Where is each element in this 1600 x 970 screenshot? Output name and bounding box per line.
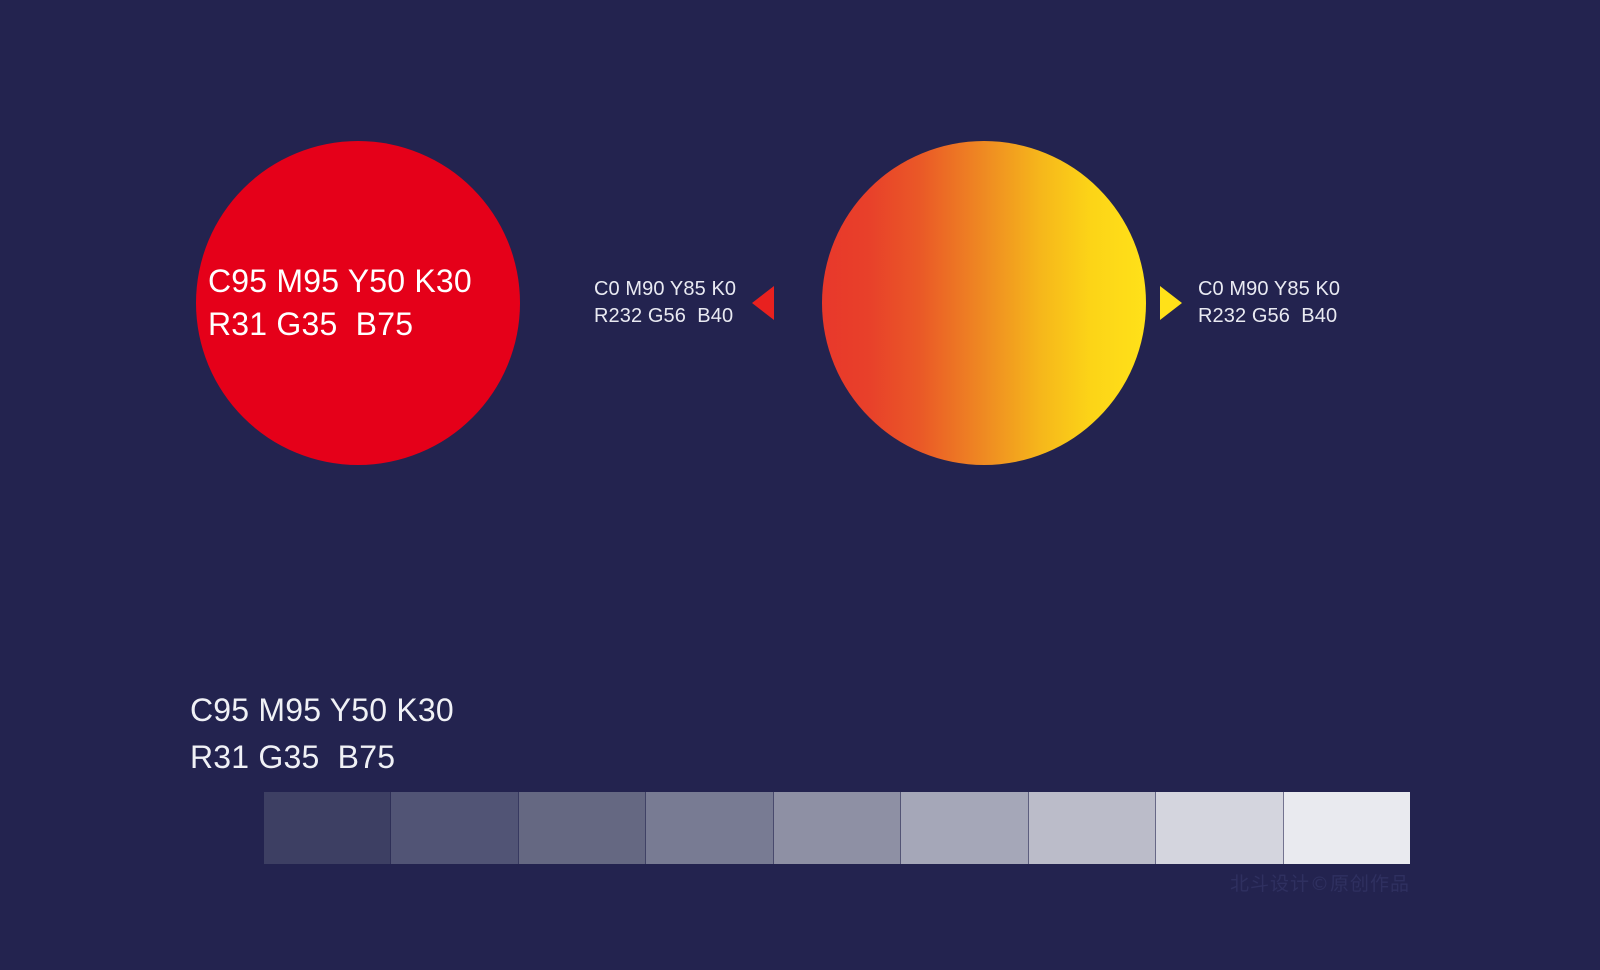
bottom-spec-label: C95 M95 Y50 K30R31 G35 B75 [190, 687, 454, 781]
triangle-right-icon [1160, 286, 1182, 320]
solid-circle-label-line1: C95 M95 Y50 K30 [208, 263, 472, 299]
tint-swatch-3 [519, 792, 646, 864]
left-pointer-line1: C0 M90 Y85 K0 [594, 278, 736, 300]
tint-swatch-2 [391, 792, 518, 864]
tint-swatch-8 [1156, 792, 1283, 864]
left-pointer-label: C0 M90 Y85 K0R232 G56 B40 [594, 276, 774, 330]
triangle-left-icon [752, 286, 774, 320]
left-pointer-text: C0 M90 Y85 K0R232 G56 B40 [594, 276, 736, 330]
solid-circle-label: C95 M95 Y50 K30R31 G35 B75 [200, 260, 472, 346]
solid-red-circle: C95 M95 Y50 K30R31 G35 B75 [196, 141, 520, 465]
right-pointer-text: C0 M90 Y85 K0R232 G56 B40 [1198, 276, 1340, 330]
tint-swatch-6 [901, 792, 1028, 864]
watermark: 北斗设计©原创作品 [1230, 869, 1410, 896]
tint-swatch-4 [646, 792, 773, 864]
right-pointer-line1: C0 M90 Y85 K0 [1198, 278, 1340, 300]
tint-swatch-1 [264, 792, 391, 864]
tint-swatch-5 [774, 792, 901, 864]
left-pointer-line2: R232 G56 B40 [594, 305, 733, 327]
tint-ramp [264, 792, 1410, 864]
tint-swatch-7 [1029, 792, 1156, 864]
bottom-spec-line1: C95 M95 Y50 K30 [190, 692, 454, 728]
right-pointer-label: C0 M90 Y85 K0R232 G56 B40 [1160, 276, 1340, 330]
solid-circle-label-line2: R31 G35 B75 [208, 306, 413, 342]
bottom-spec-line2: R31 G35 B75 [190, 739, 395, 775]
gradient-circle [822, 141, 1146, 465]
color-specification-board: C95 M95 Y50 K30R31 G35 B75 C0 M90 Y85 K0… [0, 0, 1600, 970]
tint-swatch-9 [1284, 792, 1410, 864]
right-pointer-line2: R232 G56 B40 [1198, 305, 1337, 327]
